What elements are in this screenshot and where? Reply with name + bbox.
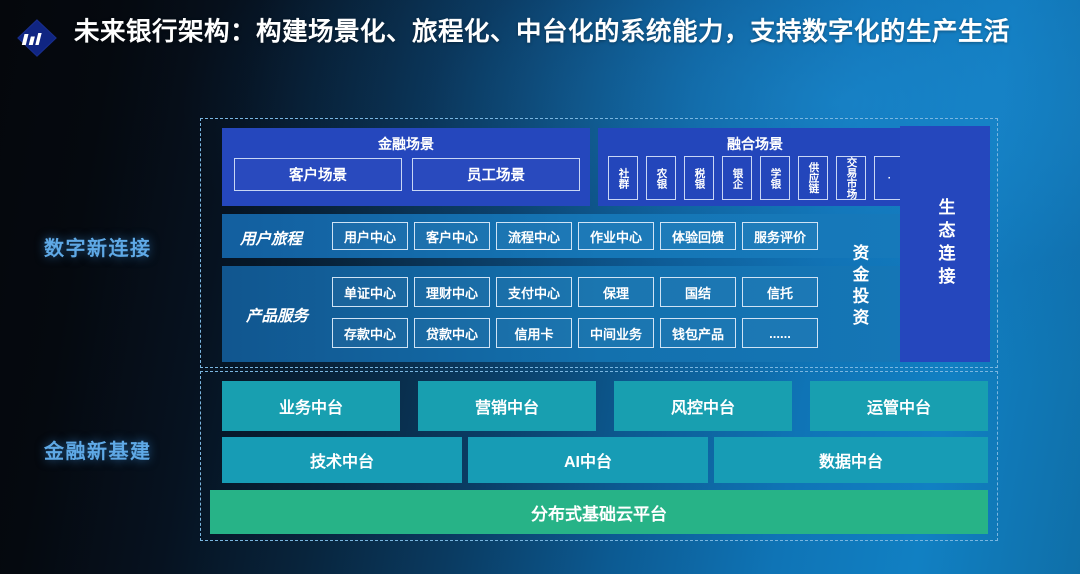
financial-scene-panel: 金融场景 客户场景 员工场景: [222, 128, 590, 206]
user-journey-label: 用户旅程: [240, 227, 302, 249]
product-chip-wallet-product[interactable]: 钱包产品: [660, 318, 736, 348]
product-chip-loan-center[interactable]: 贷款中心: [414, 318, 490, 348]
distributed-cloud-platform-bar[interactable]: 分布式基础云平台: [210, 490, 988, 534]
platform-technology-middle[interactable]: 技术中台: [222, 437, 462, 483]
platform-business-middle[interactable]: 业务中台: [222, 381, 400, 431]
fusion-box-agri-bank[interactable]: 农银: [646, 156, 676, 200]
platform-ai-middle[interactable]: AI中台: [468, 437, 708, 483]
journey-chip-customer-center[interactable]: 客户中心: [414, 222, 490, 250]
journey-chip-process-center[interactable]: 流程中心: [496, 222, 572, 250]
diamond-logo-icon: [16, 18, 58, 58]
slide-header: 未来银行架构：构建场景化、旅程化、中台化的系统能力，支持数字化的生产生活: [0, 0, 1080, 104]
upper-section-content: 金融场景 客户场景 员工场景 融合场景 社群 农银 税银 银企 学银 供应链 交…: [206, 124, 906, 362]
fusion-box-trade-market[interactable]: 交易市场: [836, 156, 866, 200]
user-journey-band: 用户旅程 用户中心 客户中心 流程中心 作业中心 体验回馈 服务评价: [222, 214, 912, 258]
fusion-box-community[interactable]: 社群: [608, 156, 638, 200]
fusion-box-bank-corp[interactable]: 银企: [722, 156, 752, 200]
capital-investment-label: 资金投资: [830, 212, 888, 362]
stage-label-digital-connection: 数字新连接: [44, 232, 152, 261]
journey-chip-experience-feedback[interactable]: 体验回馈: [660, 222, 736, 250]
fusion-box-supply-chain[interactable]: 供应链: [798, 156, 828, 200]
fusion-scene-title: 融合场景: [598, 134, 912, 154]
product-service-band: 产品服务 单证中心 理财中心 支付中心 保理 国结 信托 存款中心 贷款中心 信…: [222, 266, 912, 362]
scene-box-customer[interactable]: 客户场景: [234, 158, 402, 191]
product-chip-document-center[interactable]: 单证中心: [332, 277, 408, 307]
product-chip-wealth-center[interactable]: 理财中心: [414, 277, 490, 307]
fusion-box-edu-bank[interactable]: 学银: [760, 156, 790, 200]
stage-label-financial-infrastructure: 金融新基建: [44, 435, 152, 464]
platform-operation-middle[interactable]: 运管中台: [810, 381, 988, 431]
product-chip-intermediary[interactable]: 中间业务: [578, 318, 654, 348]
journey-chip-service-rating[interactable]: 服务评价: [742, 222, 818, 250]
journey-chip-operation-center[interactable]: 作业中心: [578, 222, 654, 250]
product-chip-credit-card[interactable]: 信用卡: [496, 318, 572, 348]
product-chip-trust[interactable]: 信托: [742, 277, 818, 307]
slide-canvas: 未来银行架构：构建场景化、旅程化、中台化的系统能力，支持数字化的生产生活 数字新…: [0, 0, 1080, 574]
financial-scene-title: 金融场景: [222, 134, 590, 154]
journey-chip-user-center[interactable]: 用户中心: [332, 222, 408, 250]
platform-data-middle[interactable]: 数据中台: [714, 437, 988, 483]
product-service-label: 产品服务: [246, 304, 308, 326]
platform-marketing-middle[interactable]: 营销中台: [418, 381, 596, 431]
eco-connection-panel[interactable]: 生态连接: [900, 126, 990, 362]
product-chip-payment-center[interactable]: 支付中心: [496, 277, 572, 307]
product-chip-settlement[interactable]: 国结: [660, 277, 736, 307]
product-chip-deposit-center[interactable]: 存款中心: [332, 318, 408, 348]
product-chip-more[interactable]: ......: [742, 318, 818, 348]
page-title: 未来银行架构：构建场景化、旅程化、中台化的系统能力，支持数字化的生产生活: [74, 14, 1014, 51]
fusion-box-tax-bank[interactable]: 税银: [684, 156, 714, 200]
fusion-scene-panel: 融合场景 社群 农银 税银 银企 学银 供应链 交易市场 ·: [598, 128, 912, 206]
platform-riskcontrol-middle[interactable]: 风控中台: [614, 381, 792, 431]
product-chip-factoring[interactable]: 保理: [578, 277, 654, 307]
scene-box-staff[interactable]: 员工场景: [412, 158, 580, 191]
